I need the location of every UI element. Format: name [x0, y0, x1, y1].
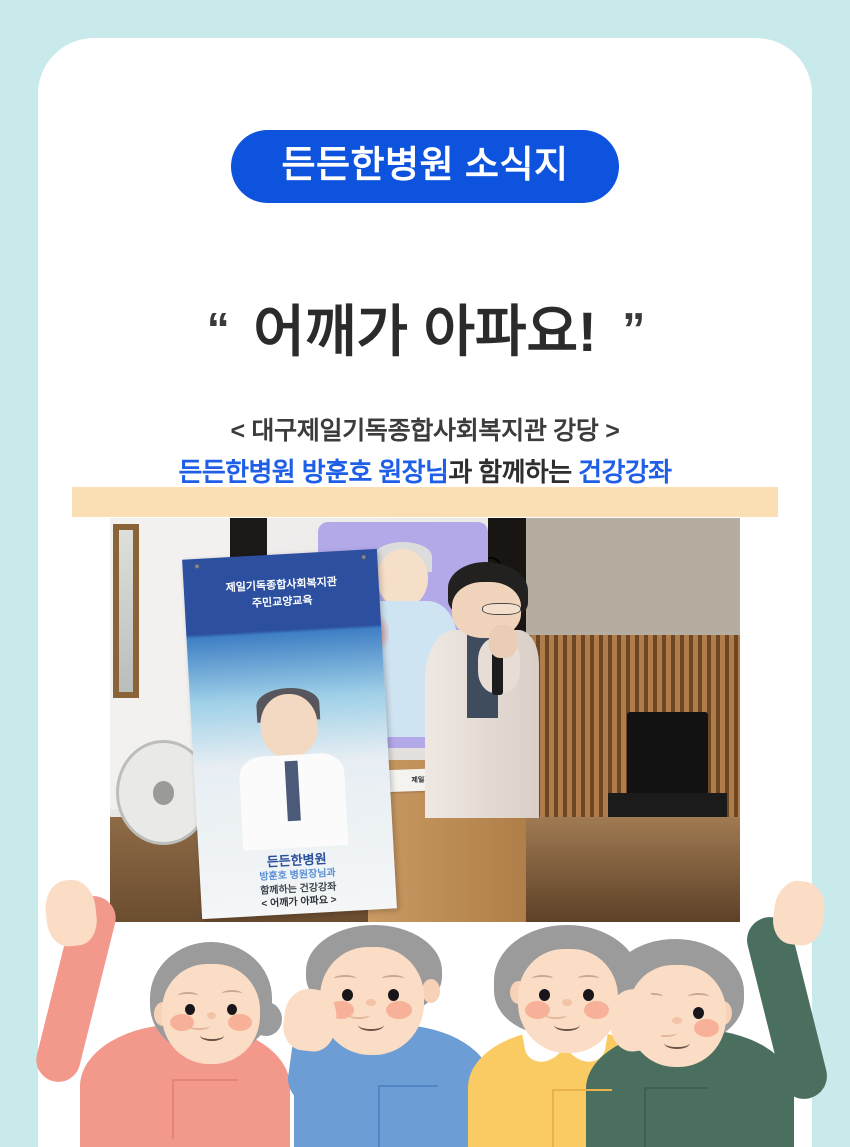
character-2-nose — [366, 999, 376, 1006]
lecture-subtitle: 든든한병원 방훈호 원장님과 함께하는 건강강좌 — [38, 452, 812, 489]
character-2-eye-right — [388, 989, 399, 1001]
glasses-icon — [482, 603, 521, 616]
badge-container: 든든한병원 소식지 — [38, 130, 812, 203]
character-3-brow-right — [578, 975, 599, 982]
character-1-eye-left — [185, 1004, 195, 1015]
character-1-brow-left — [178, 992, 198, 999]
accent-band — [72, 487, 778, 517]
banner-header: 제일기독종합사회복지관 주민교양교육 — [182, 549, 381, 635]
lecture-connector: 과 함께하는 — [448, 457, 578, 487]
character-4-eye-right — [693, 1007, 704, 1019]
character-4-cheek-right — [694, 1019, 719, 1037]
quote-close-icon: ” — [622, 303, 643, 355]
character-1-elder-waving — [22, 884, 282, 1147]
speaker-hand — [489, 625, 517, 658]
character-2-cheek-right — [386, 1001, 412, 1019]
lecture-topic: 건강강좌 — [578, 457, 671, 487]
lecture-host: 든든한병원 방훈호 원장님 — [179, 457, 449, 487]
character-3-cheek-right — [584, 1001, 609, 1019]
character-1-eye-right — [227, 1004, 237, 1015]
character-3-mouth — [554, 1019, 580, 1031]
headline-text: 어깨가 아파요! — [253, 300, 596, 363]
wall-upper — [513, 518, 740, 639]
character-3-brow-left — [532, 975, 553, 982]
character-1-hand — [43, 878, 100, 949]
character-2-wrinkle — [348, 1011, 370, 1019]
page-title: “ 어깨가 아파요! ” — [38, 301, 812, 363]
character-1-nose — [207, 1012, 216, 1019]
character-2-mouth — [358, 1019, 384, 1031]
character-3-pocket — [552, 1089, 612, 1147]
character-1-cheek-right — [228, 1014, 252, 1031]
banner-doctor-photo — [233, 692, 351, 849]
character-3-eye-left — [539, 989, 550, 1001]
door-glass — [113, 524, 139, 699]
character-2-ear — [422, 979, 440, 1003]
character-2-pocket — [378, 1085, 438, 1147]
character-3-eye-right — [583, 989, 594, 1001]
character-2-eye-left — [342, 989, 353, 1001]
character-4-hand — [770, 878, 828, 948]
venue-subtitle: < 대구제일기독종합사회복지관 강당 > — [38, 411, 812, 447]
character-1-pocket — [172, 1079, 238, 1139]
character-4-brow-right — [688, 993, 709, 1000]
newsletter-badge: 든든한병원 소식지 — [231, 130, 618, 203]
character-1-brow-right — [222, 990, 242, 997]
lecture-photo: 어깨가 아파요 😭 병원 방훈 제일기독종합사회복지관 — [110, 518, 740, 922]
character-1-mouth — [200, 1030, 224, 1041]
character-4-nose — [672, 1017, 682, 1024]
banner-doctor-head — [259, 693, 319, 759]
character-3-wrinkle — [545, 1011, 567, 1019]
character-4-pocket — [644, 1087, 708, 1147]
character-3-nose — [562, 999, 572, 1006]
elderly-characters-illustration — [0, 884, 850, 1147]
character-2-brow-right — [382, 975, 404, 982]
character-4-mouth — [664, 1037, 690, 1049]
character-2-brow-left — [334, 975, 356, 982]
character-1-wrinkle — [188, 1022, 210, 1030]
standing-banner: 제일기독종합사회복지관 주민교양교육 든든한병원 방훈호 병원장님과 함께하는 … — [182, 549, 397, 919]
speaker-person — [406, 562, 545, 812]
quote-open-icon: “ — [207, 303, 228, 355]
